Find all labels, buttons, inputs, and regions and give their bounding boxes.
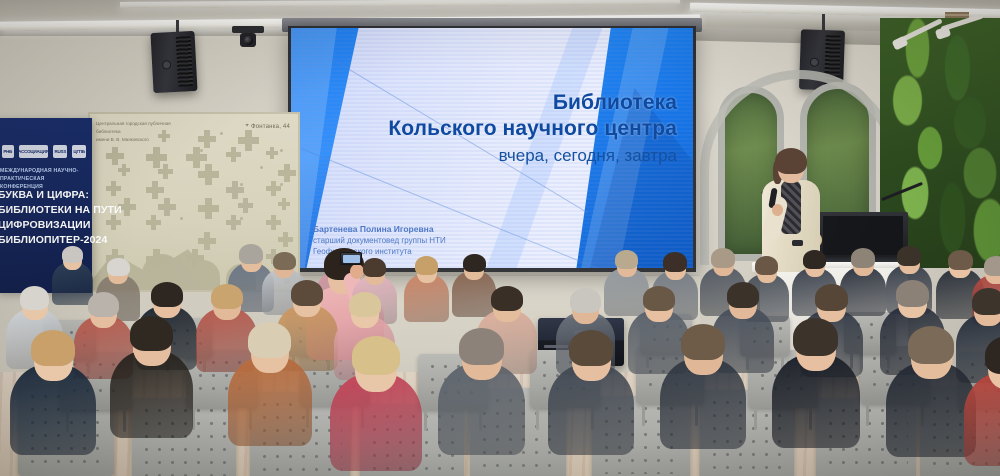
banner-logo-row: РНБ АССОЦИАЦИЯ RUSS ЦГПБ <box>2 142 86 160</box>
pattern-cross <box>205 198 212 219</box>
banner-logo: АССОЦИАЦИЯ <box>19 145 49 158</box>
audience-hair <box>463 254 486 272</box>
audience-hair <box>985 336 1000 374</box>
pattern-cross <box>231 147 236 162</box>
slide-subtitle: вчера, сегодня, завтра <box>347 145 677 166</box>
audience-hair <box>803 250 826 269</box>
audience-hair <box>570 288 601 313</box>
audience-hair <box>248 322 291 358</box>
camera-lens-icon <box>244 36 253 45</box>
pattern-dot <box>180 268 183 271</box>
pattern-cross <box>193 147 200 168</box>
pattern-cross <box>164 198 170 216</box>
chair-leg <box>536 404 539 430</box>
pattern-dot <box>200 149 203 152</box>
slide-credit-role: старший документовед группы НТИ <box>313 235 446 247</box>
audience-member <box>548 330 634 465</box>
chair-leg <box>105 472 108 476</box>
pattern-dot <box>180 217 183 220</box>
pattern-dot <box>280 149 283 152</box>
audience-hair <box>211 284 243 309</box>
chair-leg <box>642 400 645 426</box>
pattern-cross <box>162 130 166 142</box>
audience-hair <box>851 248 875 268</box>
audience-hair <box>31 330 75 366</box>
audience-hair <box>239 244 263 264</box>
audience-torso <box>964 372 1000 466</box>
audience-hair <box>363 258 386 277</box>
audience-hair <box>151 282 183 307</box>
audience-hair <box>681 324 725 360</box>
conference-hall-screenshot: Библиотека Кольского научного центра вче… <box>0 0 1000 476</box>
banner-org-line-1: Центральная городская публичная библиоте… <box>96 120 192 136</box>
audience-hair <box>273 252 296 270</box>
audience-hair <box>896 280 929 307</box>
camera-mount <box>232 26 264 33</box>
pattern-cross <box>283 232 288 247</box>
audience-hair <box>20 286 49 310</box>
audience-member <box>772 318 860 458</box>
banner-logo: РНБ <box>2 145 14 158</box>
audience-hair <box>459 328 504 365</box>
banner-kicker-line-1: МЕЖДУНАРОДНАЯ НАУЧНО- <box>0 168 88 176</box>
slide-credit-name: Бартенева Полина Игоревна <box>313 223 446 235</box>
audience-member <box>964 336 1000 476</box>
audience-hair <box>908 326 954 364</box>
pattern-dot <box>280 183 283 186</box>
audience-member <box>886 326 976 467</box>
banner-title-line-1: БУКВА И ЦИФРА: <box>0 188 90 203</box>
presenter-hand <box>772 204 783 216</box>
pattern-cross <box>124 198 130 216</box>
presentation-slide: Библиотека Кольского научного центра вче… <box>291 28 693 268</box>
audience-member <box>404 256 449 327</box>
projection-screen: Библиотека Кольского научного центра вче… <box>288 26 696 272</box>
audience-member <box>110 316 193 447</box>
pa-speaker-left <box>150 31 197 93</box>
audience-hair <box>352 336 400 375</box>
pattern-cross <box>231 215 236 230</box>
banner-title: БУКВА И ЦИФРА: БИБЛИОТЕКИ НА ПУТИ ЦИФРОВ… <box>0 188 90 248</box>
pattern-cross <box>163 164 168 179</box>
pattern-cross <box>284 164 290 182</box>
pattern-cross <box>153 249 160 270</box>
pattern-cross <box>204 130 210 148</box>
speaker-grille <box>176 36 194 87</box>
audience-hair <box>711 248 735 268</box>
audience-hair <box>62 246 83 263</box>
audience-hair <box>88 292 119 317</box>
pattern-cross <box>112 147 118 165</box>
audience-hair <box>491 286 523 311</box>
audience-hair <box>948 250 973 270</box>
banner-address-text: Фонтанка, 44 <box>251 124 290 130</box>
audience-hair <box>415 256 438 275</box>
pattern-cross <box>122 164 126 176</box>
audience-hair <box>615 250 638 269</box>
pattern-dot <box>220 132 223 135</box>
pattern-cross <box>204 232 210 250</box>
chair-leg <box>866 400 869 426</box>
audience-hair <box>643 286 675 311</box>
pattern-cross <box>282 198 286 210</box>
presenter-hair <box>775 148 807 174</box>
pattern-dot <box>240 217 243 220</box>
audience-hair <box>984 256 1000 276</box>
location-pin-icon: ⌖ <box>245 123 249 130</box>
banner-title-line-3: ЦИФРОВИЗАЦИИ <box>0 218 90 233</box>
pattern-cross <box>151 215 156 230</box>
pattern-cross <box>205 164 212 185</box>
pattern-cross <box>232 181 238 199</box>
speaker-driver <box>162 60 171 69</box>
pattern-cross <box>245 130 252 151</box>
audience-member <box>10 330 96 465</box>
banner-org-line-2: имени В. В. Маяковского <box>96 136 192 144</box>
pattern-cross <box>271 215 276 230</box>
pattern-cross <box>152 181 158 199</box>
slide-text-block: Библиотека Кольского научного центра вче… <box>347 90 677 166</box>
speaker-driver <box>809 57 818 66</box>
audience-hair <box>107 258 130 276</box>
audience-hair <box>793 318 838 356</box>
banner-logo: RUSS <box>53 145 67 158</box>
audience-hair <box>755 256 778 275</box>
audience-hair <box>815 284 848 311</box>
pattern-cross <box>243 198 248 213</box>
audience-member <box>438 328 525 465</box>
chair-leg <box>424 406 427 431</box>
chair-leg <box>754 404 757 430</box>
pattern-cross <box>153 147 160 168</box>
banner-logo: ЦГПБ <box>72 145 86 158</box>
audience-hair <box>663 252 687 272</box>
slide-title-line-1: Библиотека <box>347 90 677 116</box>
pattern-dot <box>240 183 243 186</box>
chair-leg <box>24 472 27 476</box>
pattern-cross <box>271 181 276 196</box>
audience-hair <box>130 316 173 351</box>
pattern-cross <box>192 249 198 267</box>
pattern-cross <box>111 181 116 196</box>
banner-address: ⌖ Фонтанка, 44 <box>245 123 290 130</box>
audience-hair <box>972 288 1000 315</box>
banner-title-line-2: БИБЛИОТЕКИ НА ПУТИ <box>0 203 90 218</box>
slide-title-line-2: Кольского научного центра <box>347 116 677 142</box>
pattern-cross <box>111 215 116 230</box>
audience-member <box>228 322 312 456</box>
audience-hair <box>897 246 921 266</box>
audience-hair <box>727 282 759 308</box>
pattern-cross <box>270 147 274 159</box>
audience-hair <box>291 280 323 306</box>
pattern-dot <box>260 166 263 169</box>
presenter-watch <box>792 240 803 246</box>
audience-member <box>330 336 422 476</box>
audience-member <box>660 324 746 459</box>
audience-hair <box>569 330 613 366</box>
slide-title: Библиотека Кольского научного центра <box>347 90 677 141</box>
banner-org-name: Центральная городская публичная библиоте… <box>96 120 192 143</box>
audience-hair <box>349 292 381 317</box>
